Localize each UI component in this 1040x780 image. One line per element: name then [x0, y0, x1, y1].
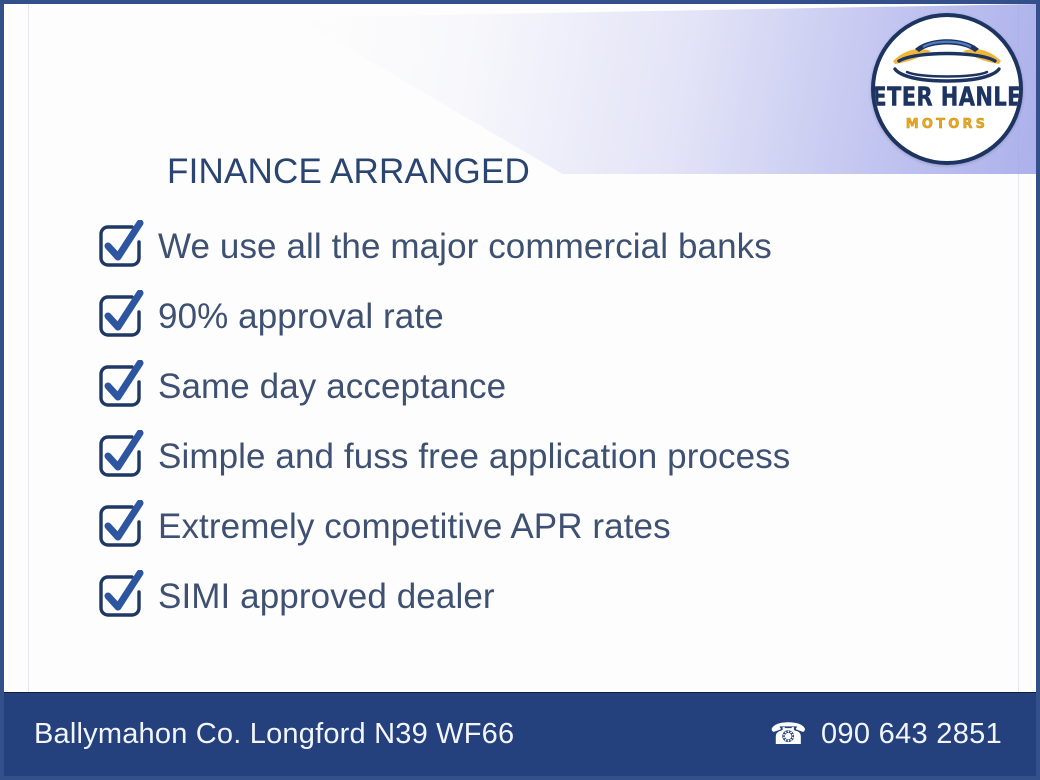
list-item: Extremely competitive APR rates — [94, 491, 974, 561]
checkbox-checked-icon — [94, 570, 146, 622]
telephone-icon: ☎ — [770, 720, 807, 750]
right-seam-line — [1018, 4, 1019, 776]
footer-bar: Ballymahon Co. Longford N39 WF66 ☎ 090 6… — [4, 692, 1036, 776]
list-item: 90% approval rate — [94, 281, 974, 351]
list-item: SIMI approved dealer — [94, 561, 974, 631]
footer-address: Ballymahon Co. Longford N39 WF66 — [34, 718, 514, 751]
logo-brand-sub: MOTORS — [906, 118, 988, 132]
car-front-icon — [885, 31, 1009, 85]
list-item: We use all the major commercial banks — [94, 211, 974, 281]
checkbox-checked-icon — [94, 430, 146, 482]
left-seam-line — [28, 4, 29, 776]
list-item-label: We use all the major commercial banks — [158, 229, 772, 264]
logo-badge: PETER HANLEY MOTORS — [871, 13, 1023, 165]
checkbox-checked-icon — [94, 290, 146, 342]
footer-phone-group[interactable]: ☎ 090 643 2851 — [770, 718, 1002, 751]
list-item-label: SIMI approved dealer — [158, 579, 495, 614]
checkbox-checked-icon — [94, 220, 146, 272]
checkbox-checked-icon — [94, 360, 146, 412]
list-item: Same day acceptance — [94, 351, 974, 421]
list-item-label: Extremely competitive APR rates — [158, 509, 671, 544]
list-item-label: Same day acceptance — [158, 369, 506, 404]
finance-arranged-poster: PETER HANLEY MOTORS FINANCE ARRANGED We … — [0, 0, 1040, 780]
list-item: Simple and fuss free application process — [94, 421, 974, 491]
logo-brand-name: PETER HANLEY — [871, 85, 1023, 111]
list-item-label: Simple and fuss free application process — [158, 439, 790, 474]
list-item-label: 90% approval rate — [158, 299, 444, 334]
footer-phone-number[interactable]: 090 643 2851 — [821, 718, 1002, 751]
benefits-list: We use all the major commercial banks 90… — [94, 211, 974, 631]
page-title: FINANCE ARRANGED — [167, 152, 530, 192]
checkbox-checked-icon — [94, 500, 146, 552]
